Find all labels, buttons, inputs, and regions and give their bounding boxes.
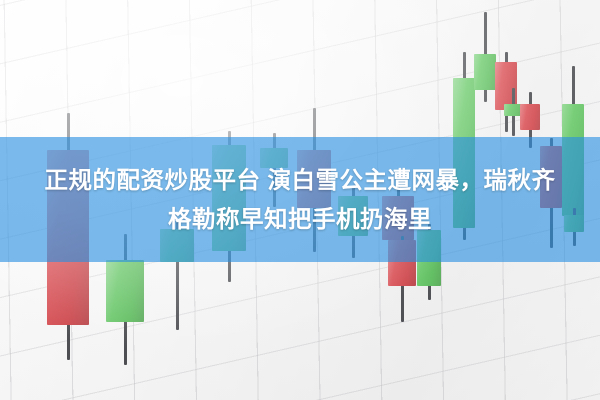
candle-body xyxy=(474,54,496,90)
banner-image: 正规的配资炒股平台 演白雪公主遭网暴，瑞秋齐 格勒称早知把手机扔海里 xyxy=(0,0,600,400)
banner-headline-line2: 格勒称早知把手机扔海里 xyxy=(8,200,592,239)
banner-headline-line1: 正规的配资炒股平台 演白雪公主遭网暴，瑞秋齐 xyxy=(44,167,555,193)
candle-body xyxy=(520,104,540,130)
candle-body xyxy=(106,260,144,322)
banner-headline: 正规的配资炒股平台 演白雪公主遭网暴，瑞秋齐 格勒称早知把手机扔海里 xyxy=(0,161,600,239)
